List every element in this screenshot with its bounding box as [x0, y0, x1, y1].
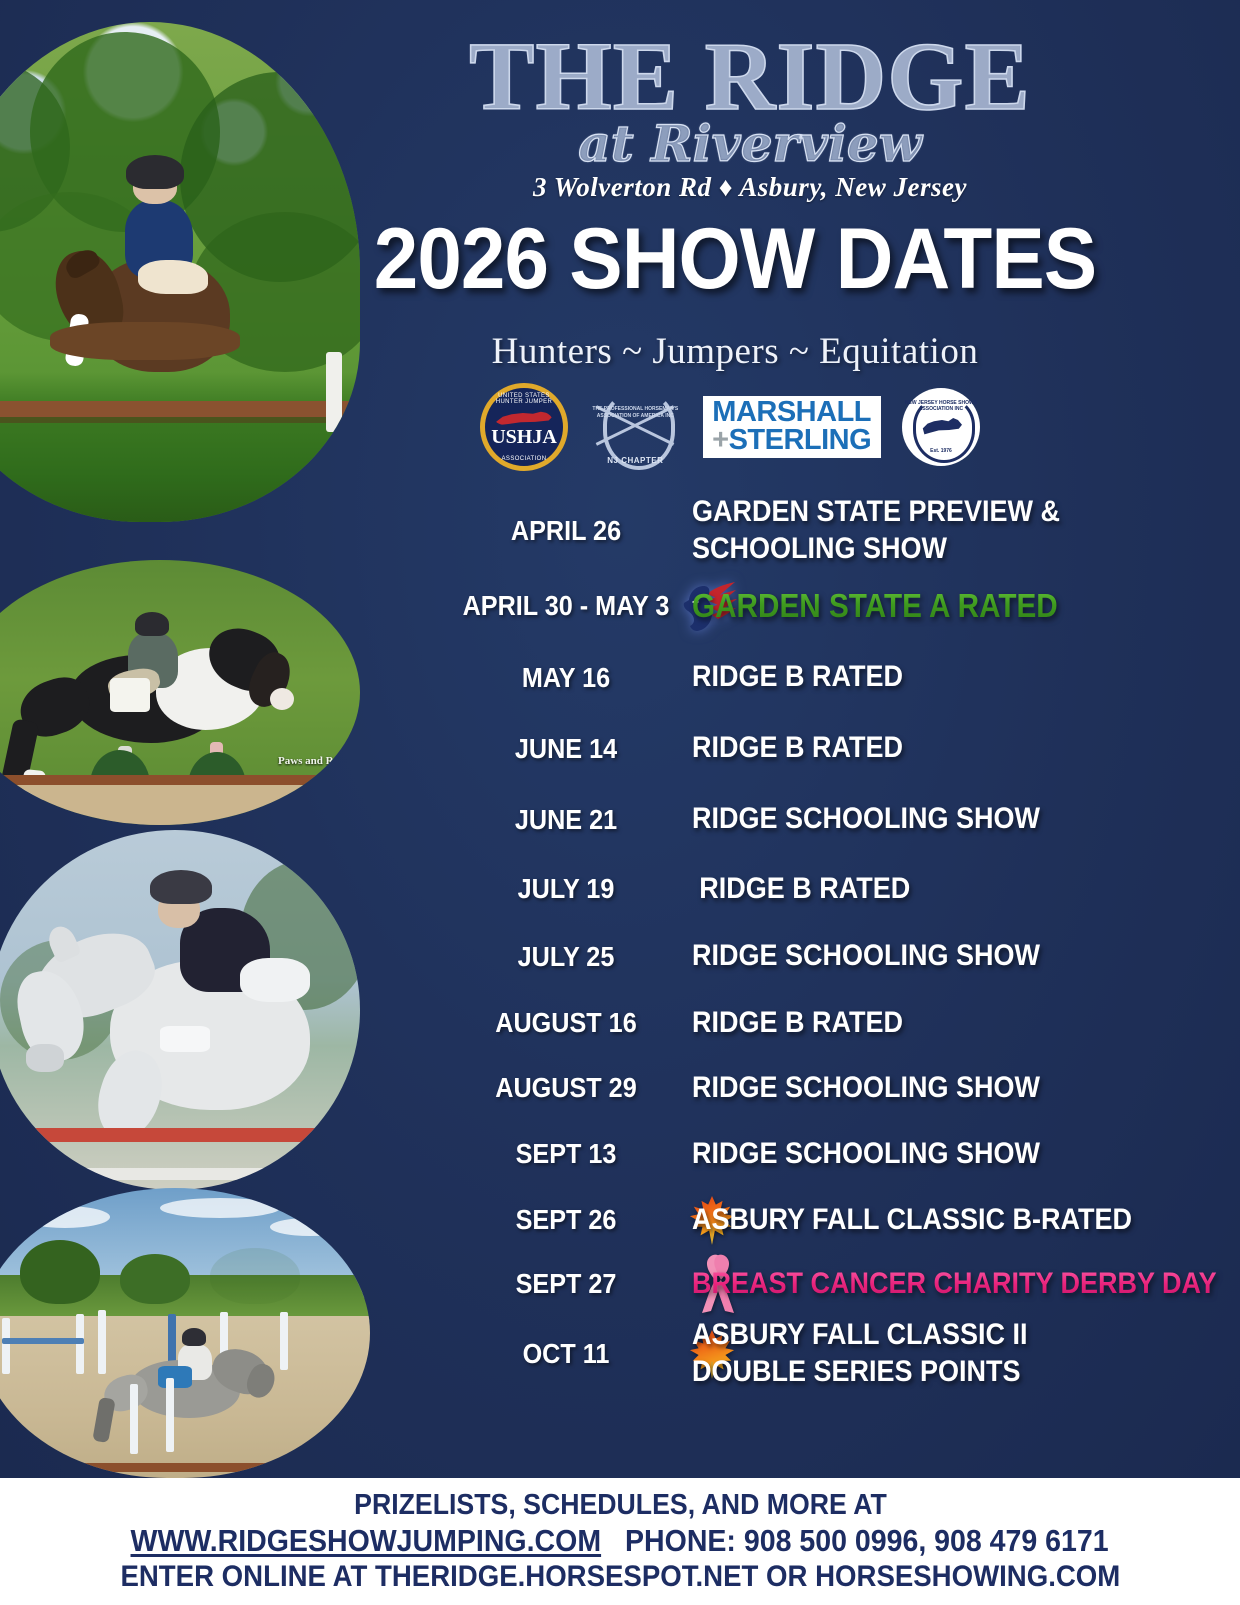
schedule-row: AUGUST 29 RIDGE SCHOOLING SHOW	[440, 1056, 1230, 1120]
photo-watermark: Paws and Rev	[278, 755, 344, 767]
show-event: ASBURY FALL CLASSIC B-RATED	[692, 1202, 1176, 1239]
show-event: GARDEN STATE A RATED	[692, 586, 1176, 626]
brand-name: THE RIDGE	[440, 28, 1060, 126]
show-event: BREAST CANCER CHARITY DERBY DAY	[692, 1266, 1217, 1303]
show-event: RIDGE SCHOOLING SHOW	[692, 1070, 1176, 1107]
schedule-row: MAY 16 RIDGE B RATED	[440, 642, 1230, 713]
show-event: RIDGE SCHOOLING SHOW	[692, 1136, 1176, 1173]
show-event: RIDGE B RATED	[692, 1005, 1176, 1042]
marshall-text: MARSHALL	[712, 399, 871, 427]
show-date: SEPT 26	[453, 1204, 680, 1236]
photo-rider-bay-horse-trees	[0, 22, 360, 522]
show-date: APRIL 30 - MAY 3	[453, 590, 680, 622]
show-event: RIDGE SCHOOLING SHOW	[692, 801, 1176, 838]
footer-entry-line: ENTER ONLINE AT THERIDGE.HORSESPOT.NET O…	[120, 1560, 1120, 1595]
show-date: SEPT 27	[453, 1268, 680, 1300]
affiliation-logos: UNITED STATES HUNTER JUMPER USHJA ASSOCI…	[480, 386, 980, 468]
schedule-row: SEPT 26 ASBURY FALL CLASSIC B-RATED	[440, 1188, 1230, 1252]
show-event: GARDEN STATE PREVIEW &SCHOOLING SHOW	[692, 494, 1176, 567]
njhsa-est-text: Est. 1976	[902, 448, 980, 454]
footer-contact-row: WWW.RIDGESHOWJUMPING.COM PHONE: 908 500 …	[131, 1522, 1109, 1559]
brand-script: at Riverview	[440, 114, 1060, 173]
show-event: RIDGE B RATED	[692, 871, 1176, 908]
photo-paint-horse-jumping: Paws and Rev	[0, 560, 360, 825]
show-event-line1: GARDEN STATE PREVIEW &	[692, 494, 1176, 531]
marshall-sterling-logo: MARSHALL +STERLING	[703, 396, 881, 458]
show-date: JUNE 14	[453, 733, 680, 765]
show-date: JULY 25	[453, 941, 680, 973]
pha-center-text: THE PROFESSIONAL HORSEMAN'S ASSOCIATION …	[589, 406, 681, 421]
schedule-row: JUNE 14 RIDGE B RATED	[440, 713, 1230, 784]
schedule-row: JULY 19 RIDGE B RATED	[440, 855, 1230, 923]
njhsa-arc-text: NEW JERSEY HORSE SHOWS ASSOCIATION INC	[902, 400, 980, 412]
sterling-text: +STERLING	[712, 427, 871, 455]
show-date: OCT 11	[453, 1338, 680, 1370]
ushja-logo: UNITED STATES HUNTER JUMPER USHJA ASSOCI…	[480, 383, 568, 471]
show-date: AUGUST 29	[453, 1072, 680, 1104]
show-date: JULY 19	[453, 873, 680, 905]
schedule-row: APRIL 30 - MAY 3 GARDEN STATE A RATED	[440, 570, 1230, 642]
pha-chapter-text: NJ CHAPTER	[589, 456, 681, 465]
schedule-row: SEPT 13 RIDGE SCHOOLING SHOW	[440, 1120, 1230, 1188]
page-subtitle: Hunters ~ Jumpers ~ Equitation	[340, 330, 1130, 373]
njhsa-logo: NEW JERSEY HORSE SHOWS ASSOCIATION INC E…	[902, 388, 980, 466]
show-event-line2: DOUBLE SERIES POINTS	[692, 1354, 1176, 1391]
schedule-row: AUGUST 16 RIDGE B RATED	[440, 990, 1230, 1056]
schedule-row: JULY 25 RIDGE SCHOOLING SHOW	[440, 923, 1230, 990]
schedule-row: JUNE 21 RIDGE SCHOOLING SHOW	[440, 784, 1230, 855]
show-dates-poster: Paws and Rev	[0, 0, 1240, 1605]
photo-grey-horse-hunter	[0, 830, 360, 1190]
show-date: AUGUST 16	[453, 1007, 680, 1039]
footer: PRIZELISTS, SCHEDULES, AND MORE AT WWW.R…	[0, 1478, 1240, 1605]
ushja-bottom-text: ASSOCIATION	[485, 456, 563, 462]
show-date: JUNE 21	[453, 804, 680, 836]
photo-column: Paws and Rev	[0, 0, 372, 1480]
show-event: RIDGE SCHOOLING SHOW	[692, 938, 1176, 975]
sterling-word: STERLING	[729, 424, 872, 456]
show-event: ASBURY FALL CLASSIC IIDOUBLE SERIES POIN…	[692, 1317, 1176, 1390]
show-date: MAY 16	[453, 662, 680, 694]
show-event-line1: ASBURY FALL CLASSIC II	[692, 1317, 1176, 1354]
footer-tagline: PRIZELISTS, SCHEDULES, AND MORE AT	[354, 1489, 887, 1522]
schedule-row: OCT 11 ASBURY FALL CLASSIC IIDOUBLE SERI…	[440, 1316, 1230, 1392]
pha-nj-chapter-logo: THE PROFESSIONAL HORSEMAN'S ASSOCIATION …	[589, 388, 681, 466]
horse-rider-icon	[496, 410, 552, 427]
show-date: APRIL 26	[453, 515, 680, 547]
brand-address: 3 Wolverton Rd ♦ Asbury, New Jersey	[440, 172, 1060, 203]
photo-pony-arena-jump	[0, 1188, 370, 1478]
show-event-line2: SCHOOLING SHOW	[692, 531, 1176, 568]
show-event: RIDGE B RATED	[692, 730, 1176, 767]
page-title: 2026 SHOW DATES	[368, 216, 1103, 302]
brand-logo: THE RIDGE at Riverview 3 Wolverton Rd ♦ …	[440, 28, 1060, 208]
show-dates-schedule: APRIL 26 GARDEN STATE PREVIEW &SCHOOLING…	[440, 492, 1230, 1392]
ushja-top-text: UNITED STATES HUNTER JUMPER	[485, 393, 563, 405]
schedule-row: APRIL 26 GARDEN STATE PREVIEW &SCHOOLING…	[440, 492, 1230, 570]
website-link[interactable]: WWW.RIDGESHOWJUMPING.COM	[131, 1522, 602, 1559]
phone-numbers: PHONE: 908 500 0996, 908 479 6171	[625, 1522, 1109, 1559]
plus-icon: +	[712, 424, 728, 456]
schedule-row: SEPT 27 BREAST CANCER CHARITY DERBY DAY	[440, 1252, 1230, 1316]
show-event: RIDGE B RATED	[692, 659, 1176, 696]
show-date: SEPT 13	[453, 1138, 680, 1170]
ushja-wordmark: USHJA	[485, 426, 563, 449]
